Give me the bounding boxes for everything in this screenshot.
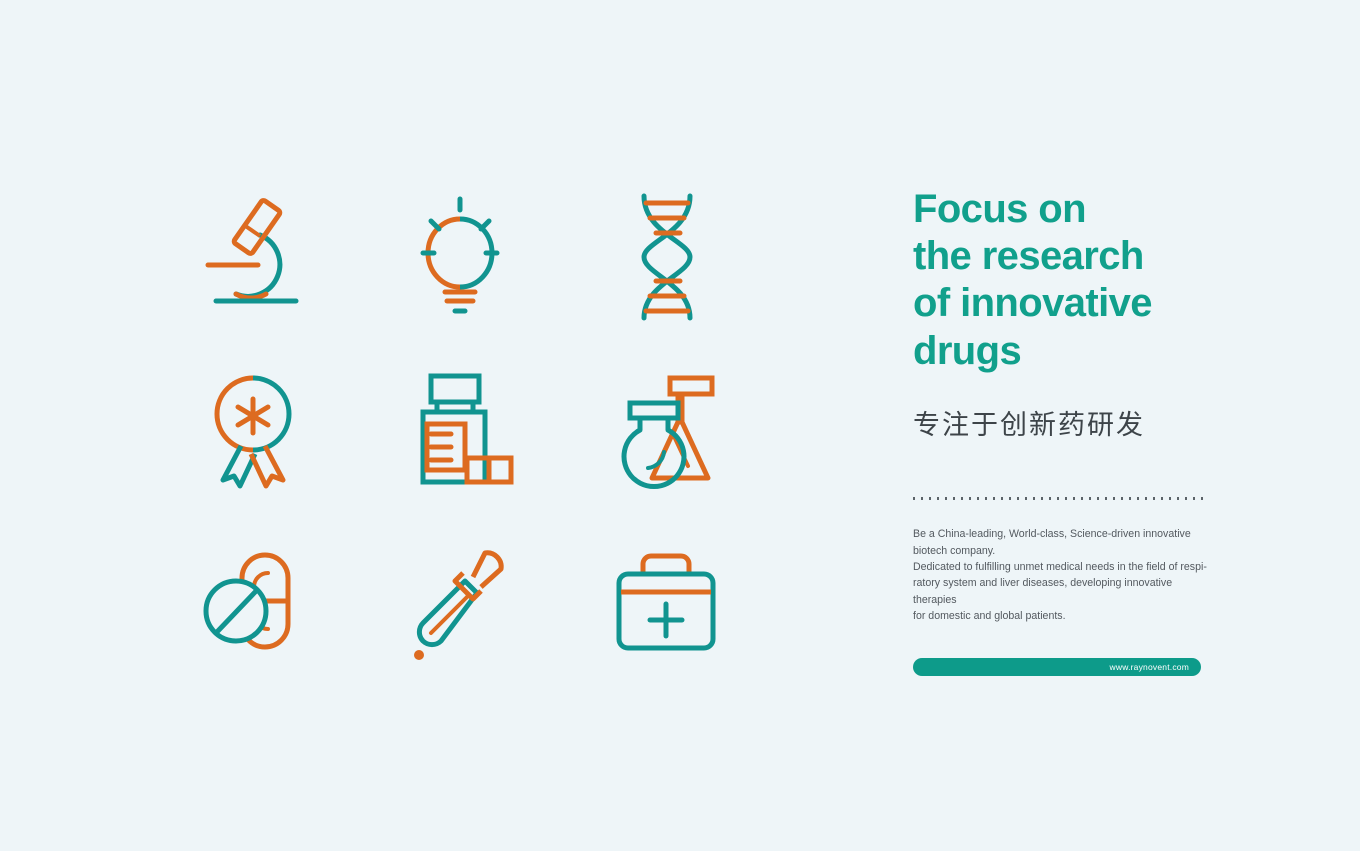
- icon-cell-dna: [563, 170, 770, 343]
- icon-cell-award: [150, 343, 357, 516]
- dropper-icon: [405, 543, 515, 663]
- lab-flasks-icon: [612, 370, 722, 490]
- website-button[interactable]: www.raynovent.com: [913, 658, 1201, 676]
- icon-cell-pill-bottle: [357, 343, 564, 516]
- icon-cell-first-aid-kit: [563, 517, 770, 690]
- icon-cell-microscope: [150, 170, 357, 343]
- icon-cell-lightbulb: [357, 170, 564, 343]
- dna-helix-icon: [612, 192, 722, 322]
- microscope-icon: [198, 197, 308, 317]
- body-paragraph: Be a China-leading, World-class, Science…: [913, 526, 1213, 624]
- page-title: Focus on the research of innovative drug…: [913, 186, 1213, 375]
- first-aid-kit-icon: [609, 548, 724, 658]
- subtitle-chinese: 专注于创新药研发: [913, 409, 1213, 441]
- content-panel: Focus on the research of innovative drug…: [913, 186, 1213, 676]
- icon-cell-pills: [150, 517, 357, 690]
- poster-canvas: Focus on the research of innovative drug…: [0, 0, 1360, 851]
- pills-icon: [198, 543, 308, 663]
- lightbulb-icon: [405, 197, 515, 317]
- icon-cell-dropper: [357, 517, 564, 690]
- dotted-divider: [913, 497, 1208, 500]
- pill-bottle-icon: [405, 370, 515, 490]
- website-url-label: www.raynovent.com: [1110, 662, 1189, 672]
- icon-cell-flasks: [563, 343, 770, 516]
- icon-grid: [150, 170, 770, 690]
- award-ribbon-icon: [198, 370, 308, 490]
